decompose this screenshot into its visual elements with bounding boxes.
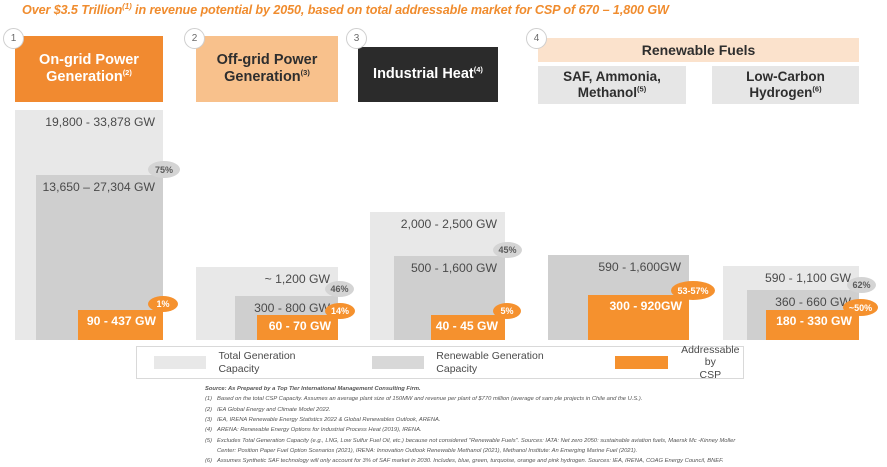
footnote-text-2: IEA Global Energy and Climate Model 2022…: [217, 405, 875, 415]
column-4a-footnote-ref: (5): [637, 85, 646, 94]
footnote-tag-3: (3): [205, 415, 217, 425]
footnote-row-4: (4) ARENA: Renewable Energy Options for …: [205, 425, 875, 435]
column-header-industrial-heat[interactable]: Industrial Heat(4): [358, 47, 498, 102]
bar-csp-capacity-label-column-3: 40 - 45 GW: [436, 319, 498, 333]
bar-total-capacity-label-column-4b: 590 - 1,100 GW: [765, 271, 851, 285]
legend-swatch-csp-icon: [615, 356, 667, 369]
headline-footnote-ref: (1): [122, 2, 131, 11]
bar-csp-capacity-label-column-1: 90 - 437 GW: [87, 314, 156, 328]
column-header-off-grid-power-generation[interactable]: Off-grid Power Generation(3): [196, 36, 338, 102]
footnote-text-6: Assumes Synthetic SAF technology will on…: [217, 456, 875, 466]
pill-renewable-share-column-1: 75%: [148, 161, 180, 178]
column-2-title-line1: Off-grid Power: [217, 52, 318, 68]
column-1-title-line2: Generation: [46, 69, 123, 85]
bar-csp-capacity-label-column-4b: 180 - 330 GW: [776, 314, 852, 328]
bar-csp-capacity-label-column-2: 60 - 70 GW: [269, 319, 331, 333]
bar-csp-capacity-column-1[interactable]: 90 - 437 GW: [78, 310, 163, 340]
footnote-text-3: IEA, IRENA Renewable Energy Statistics 2…: [217, 415, 875, 425]
pill-csp-share-column-4a: 53-57%: [671, 281, 715, 300]
footnote-tag-5-cont: [205, 446, 217, 456]
bar-renewable-capacity-label-column-2: 300 - 800 GW: [254, 301, 330, 315]
pill-csp-share-column-2: 14%: [325, 303, 355, 319]
footnote-tag-5: (5): [205, 436, 217, 446]
legend-label-renewable-generation-capacity: Renewable Generation Capacity: [436, 350, 573, 374]
bar-total-capacity-label-column-1: 19,800 - 33,878 GW: [45, 115, 155, 129]
bar-csp-capacity-label-column-4a: 300 - 920GW: [610, 299, 682, 313]
legend-label-csp-line2: CSP: [699, 369, 721, 381]
page-title: Over $3.5 Trillion(1) in revenue potenti…: [22, 2, 872, 17]
pill-csp-share-column-3: 5%: [493, 303, 521, 319]
bar-csp-capacity-column-4b[interactable]: 180 - 330 GW: [766, 310, 859, 340]
footnote-text-5-cont: Center: Position Paper Fuel Option Scena…: [217, 446, 875, 456]
column-header-on-grid-power-generation[interactable]: On-grid Power Generation(2): [15, 36, 163, 102]
headline-text-before: Over $3.5 Trillion: [22, 3, 122, 17]
pill-csp-share-column-4b: ~50%: [843, 299, 878, 316]
bar-total-capacity-label-column-3: 2,000 - 2,500 GW: [401, 217, 497, 231]
column-2-title-line2: Generation: [224, 69, 301, 85]
footnote-row-6: (6) Assumes Synthetic SAF technology wil…: [205, 456, 875, 466]
column-4b-title-line1: Low-Carbon: [746, 69, 825, 84]
column-4a-title-line2: Methanol: [578, 85, 637, 100]
bar-renewable-capacity-label-column-3: 500 - 1,600 GW: [411, 261, 497, 275]
bar-csp-capacity-column-4a[interactable]: 300 - 920GW: [588, 295, 689, 340]
footnotes: Source: As Prepared by a Top Tier Intern…: [205, 384, 875, 467]
pill-renewable-share-column-3: 45%: [493, 242, 522, 258]
legend-label-total-generation-capacity: Total Generation Capacity: [218, 350, 327, 374]
infographic-canvas: Over $3.5 Trillion(1) in revenue potenti…: [0, 0, 887, 459]
pill-renewable-share-column-2: 46%: [325, 281, 354, 297]
legend-item-total-generation-capacity[interactable]: Total Generation Capacity: [154, 350, 328, 374]
footnote-source-row: Source: As Prepared by a Top Tier Intern…: [205, 384, 875, 394]
footnote-row-2: (2) IEA Global Energy and Climate Model …: [205, 405, 875, 415]
footnote-tag-6: (6): [205, 456, 217, 466]
footnote-row-3: (3) IEA, IRENA Renewable Energy Statisti…: [205, 415, 875, 425]
chart-legend: Total Generation Capacity Renewable Gene…: [136, 346, 744, 379]
footnote-tag-1: (1): [205, 394, 217, 404]
step-number-1: 1: [3, 28, 24, 49]
column-4b-title-line2: Hydrogen: [749, 85, 812, 100]
bar-renewable-capacity-label-column-4b: 360 - 660 GW: [775, 295, 851, 309]
bar-csp-capacity-column-3[interactable]: 40 - 45 GW: [431, 315, 505, 340]
group-header-renewable-fuels: Renewable Fuels: [538, 38, 859, 62]
footnote-text-5: Excludes Total Generation Capacity (e.g.…: [217, 436, 875, 446]
column-4a-title-line1: SAF, Ammonia,: [563, 69, 661, 84]
legend-item-addressable-by-csp[interactable]: Addressable by CSP: [615, 344, 743, 380]
column-3-title-line1: Industrial Heat: [373, 66, 474, 82]
column-1-title-line1: On-grid Power: [39, 52, 139, 68]
footnote-row-1: (1) Based on the total CSP Capacity. Ass…: [205, 394, 875, 404]
column-header-saf-ammonia-methanol[interactable]: SAF, Ammonia, Methanol(5): [538, 66, 686, 104]
legend-label-csp-line1: Addressable by: [681, 344, 739, 368]
column-2-footnote-ref: (3): [301, 68, 310, 77]
bar-renewable-capacity-label-column-1: 13,650 – 27,304 GW: [43, 180, 155, 194]
pill-csp-share-column-1: 1%: [148, 296, 178, 312]
footnote-source: Source: As Prepared by a Top Tier Intern…: [205, 384, 875, 394]
legend-swatch-total-icon: [154, 356, 206, 369]
footnote-text-4: ARENA: Renewable Energy Options for Indu…: [217, 425, 875, 435]
footnote-row-5: (5) Excludes Total Generation Capacity (…: [205, 436, 875, 446]
legend-label-addressable-by-csp: Addressable by CSP: [678, 344, 743, 380]
legend-swatch-renewable-icon: [372, 356, 425, 369]
column-3-footnote-ref: (4): [474, 65, 483, 74]
headline-text-after: in revenue potential by 2050, based on t…: [132, 3, 669, 17]
footnote-tag-4: (4): [205, 425, 217, 435]
step-number-3: 3: [346, 28, 367, 49]
column-1-footnote-ref: (2): [123, 68, 132, 77]
footnote-row-5-continued: Center: Position Paper Fuel Option Scena…: [205, 446, 875, 456]
column-4b-footnote-ref: (6): [812, 85, 821, 94]
bar-total-capacity-label-column-2: ~ 1,200 GW: [265, 272, 330, 286]
footnote-tag-2: (2): [205, 405, 217, 415]
footnote-text-1: Based on the total CSP Capacity. Assumes…: [217, 394, 875, 404]
step-number-2: 2: [184, 28, 205, 49]
column-header-low-carbon-hydrogen[interactable]: Low-Carbon Hydrogen(6): [712, 66, 859, 104]
pill-renewable-share-column-4b: 62%: [847, 277, 876, 293]
step-number-4: 4: [526, 28, 547, 49]
group-header-renewable-fuels-label: Renewable Fuels: [642, 42, 756, 58]
bar-csp-capacity-column-2[interactable]: 60 - 70 GW: [257, 315, 338, 340]
legend-item-renewable-generation-capacity[interactable]: Renewable Generation Capacity: [372, 350, 573, 374]
bar-renewable-capacity-label-column-4a: 590 - 1,600GW: [598, 260, 681, 274]
